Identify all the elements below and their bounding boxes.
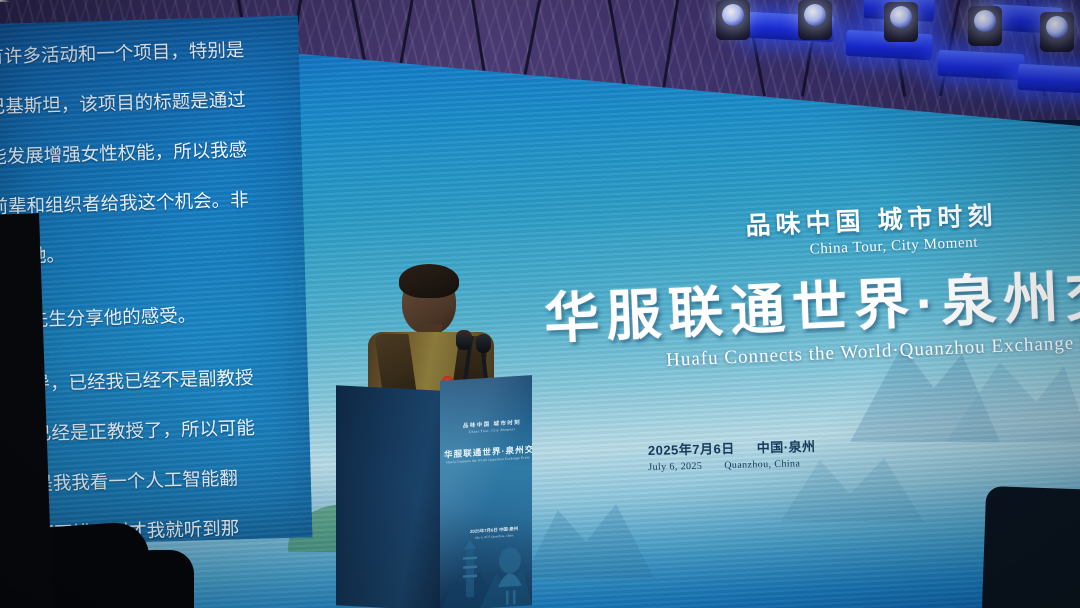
subtitle-line: 谢前辈和组织者给我这个机会。非 bbox=[0, 179, 302, 226]
microphone-head-secondary bbox=[476, 334, 491, 353]
banner-location-cn: 中国·泉州 bbox=[756, 436, 815, 456]
spotlight-fixture bbox=[968, 6, 1002, 46]
subtitle-line: 常感谢她。 bbox=[0, 229, 303, 276]
spotlight-fixture bbox=[1040, 12, 1074, 52]
podium-left-face bbox=[336, 385, 442, 608]
banner-date-cn: 2025年7月6日 bbox=[648, 438, 735, 459]
speaker-hair bbox=[399, 264, 459, 298]
subtitle-line: 在巴基斯坦，该项目的标题是通过 bbox=[0, 79, 299, 126]
led-bar-light bbox=[937, 50, 1024, 80]
podium-lectern: 品味中国 城市时刻 China Tour, City Moment 华服联通世界… bbox=[336, 378, 532, 608]
stage-photo: 品味中国 城市时刻 China Tour, City Moment 华服联通世界… bbox=[0, 0, 1080, 608]
subtitle-line: 请吉来先生分享他的感受。 bbox=[0, 293, 305, 340]
banner-location-en: Quanzhou, China bbox=[724, 458, 800, 471]
banner-date-en: July 6, 2025 bbox=[648, 461, 702, 473]
subtitle-line: 各位领导，已经我已经不是副教授 bbox=[0, 357, 306, 404]
stage-speaker-cabinet bbox=[982, 486, 1080, 608]
spotlight-fixture bbox=[716, 0, 750, 40]
podium-front-face: 品味中国 城市时刻 China Tour, City Moment 华服联通世界… bbox=[440, 375, 532, 608]
spotlight-fixture bbox=[798, 0, 832, 40]
microphone-head bbox=[456, 330, 472, 350]
led-bar-light bbox=[1017, 64, 1080, 94]
subtitle-line: 还有许多活动和一个项目，特别是 bbox=[0, 30, 297, 77]
subtitle-line: 技能发展增强女性权能，所以我感 bbox=[0, 129, 300, 176]
spotlight-fixture bbox=[884, 2, 918, 42]
mountain-graphic-center bbox=[524, 458, 724, 578]
banner-date-block: 2025年7月6日 中国·泉州 July 6, 2025 Quanzhou, C… bbox=[648, 436, 816, 473]
banner-text-block: 品味中国 城市时刻 China Tour, City Moment 华服联通世界… bbox=[540, 190, 1080, 377]
podium-landmark-graphics bbox=[440, 531, 532, 608]
